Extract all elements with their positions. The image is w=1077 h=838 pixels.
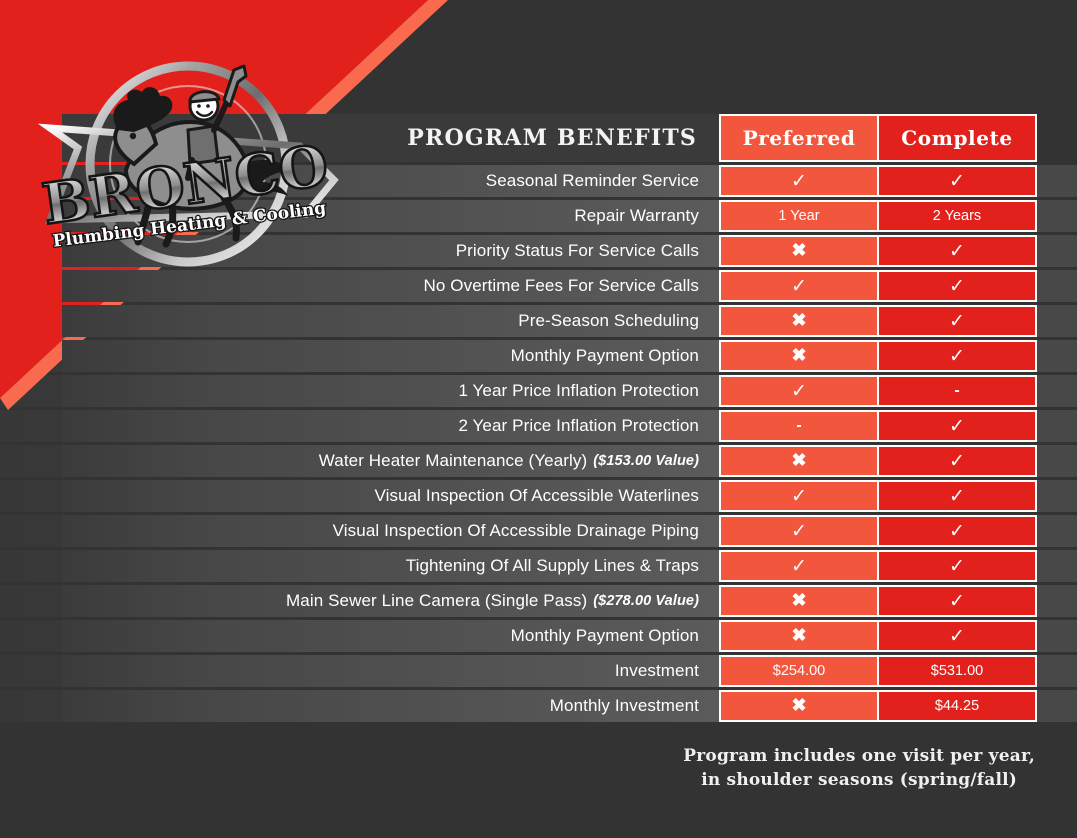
- cross-icon: ✖: [791, 697, 806, 715]
- check-icon: ✓: [949, 452, 965, 471]
- cell-preferred: ✓: [719, 270, 879, 302]
- cell-complete: ✓: [877, 340, 1037, 372]
- benefit-label-text: 2 Year Price Inflation Protection: [458, 416, 699, 436]
- cell-complete: ✓: [877, 480, 1037, 512]
- benefit-label-text: Monthly Investment: [550, 696, 699, 716]
- cell-preferred: ✖: [719, 585, 879, 617]
- cell-value: $531.00: [931, 663, 983, 679]
- cell-complete: ✓: [877, 515, 1037, 547]
- check-icon: ✓: [791, 172, 807, 191]
- benefit-label: Monthly Payment Option: [62, 620, 721, 652]
- cell-complete: $44.25: [877, 690, 1037, 722]
- header-col-preferred[interactable]: Preferred: [719, 114, 879, 162]
- benefit-label-text: No Overtime Fees For Service Calls: [424, 276, 699, 296]
- benefit-label: 1 Year Price Inflation Protection: [62, 375, 721, 407]
- cross-icon: ✖: [791, 592, 806, 610]
- cell-preferred: ✖: [719, 690, 879, 722]
- cell-complete: -: [877, 375, 1037, 407]
- benefit-label-text: Investment: [615, 661, 699, 681]
- check-icon: ✓: [949, 522, 965, 541]
- check-icon: ✓: [949, 592, 965, 611]
- cell-complete: 2 Years: [877, 200, 1037, 232]
- cell-value: 1 Year: [778, 208, 819, 224]
- table-row: Monthly Investment✖$44.25: [62, 690, 1037, 722]
- table-row: Water Heater Maintenance (Yearly)($153.0…: [62, 445, 1037, 477]
- footnote-line-2: in shoulder seasons (spring/fall): [683, 768, 1035, 792]
- cross-icon: ✖: [791, 347, 806, 365]
- cross-icon: ✖: [791, 452, 806, 470]
- benefit-label: Visual Inspection Of Accessible Waterlin…: [62, 480, 721, 512]
- dash-icon: -: [954, 383, 959, 399]
- cell-preferred: ✓: [719, 550, 879, 582]
- benefit-label-text: Visual Inspection Of Accessible Waterlin…: [374, 486, 699, 506]
- table-row: 2 Year Price Inflation Protection-✓: [62, 410, 1037, 442]
- dash-icon: -: [796, 418, 801, 434]
- table-row: Visual Inspection Of Accessible Drainage…: [62, 515, 1037, 547]
- benefit-label: Main Sewer Line Camera (Single Pass)($27…: [62, 585, 721, 617]
- check-icon: ✓: [949, 557, 965, 576]
- check-icon: ✓: [949, 627, 965, 646]
- benefit-label-text: Main Sewer Line Camera (Single Pass): [286, 591, 587, 611]
- check-icon: ✓: [949, 347, 965, 366]
- check-icon: ✓: [791, 382, 807, 401]
- table-row: Pre-Season Scheduling✖✓: [62, 305, 1037, 337]
- cell-complete: ✓: [877, 620, 1037, 652]
- benefit-label-text: Monthly Payment Option: [511, 626, 699, 646]
- benefit-label: Tightening Of All Supply Lines & Traps: [62, 550, 721, 582]
- cell-complete: ✓: [877, 165, 1037, 197]
- benefit-label-text: Priority Status For Service Calls: [456, 241, 699, 261]
- cell-preferred: ✖: [719, 305, 879, 337]
- cell-complete: ✓: [877, 305, 1037, 337]
- check-icon: ✓: [791, 277, 807, 296]
- cell-preferred: $254.00: [719, 655, 879, 687]
- cell-preferred: 1 Year: [719, 200, 879, 232]
- header-col-complete[interactable]: Complete: [877, 114, 1037, 162]
- table-row: Monthly Payment Option✖✓: [62, 620, 1037, 652]
- cell-value: $254.00: [773, 663, 825, 679]
- cell-value: 2 Years: [933, 208, 981, 224]
- cell-preferred: ✖: [719, 445, 879, 477]
- cell-complete: ✓: [877, 270, 1037, 302]
- cell-preferred: ✖: [719, 620, 879, 652]
- benefit-label-text: Pre-Season Scheduling: [518, 311, 699, 331]
- table-row: Investment$254.00$531.00: [62, 655, 1037, 687]
- check-icon: ✓: [949, 242, 965, 261]
- table-row: Monthly Payment Option✖✓: [62, 340, 1037, 372]
- cell-value: $44.25: [935, 698, 979, 714]
- cell-complete: $531.00: [877, 655, 1037, 687]
- table-row: Main Sewer Line Camera (Single Pass)($27…: [62, 585, 1037, 617]
- program-footnote: Program includes one visit per year, in …: [683, 744, 1035, 792]
- cell-preferred: ✖: [719, 235, 879, 267]
- benefit-value-note: ($153.00 Value): [593, 453, 699, 469]
- table-row: Tightening Of All Supply Lines & Traps✓✓: [62, 550, 1037, 582]
- bronco-logo: BRONCO Plumbing Heating & Cooling: [38, 52, 348, 282]
- table-row: Visual Inspection Of Accessible Waterlin…: [62, 480, 1037, 512]
- cell-complete: ✓: [877, 235, 1037, 267]
- check-icon: ✓: [791, 557, 807, 576]
- benefit-label: Water Heater Maintenance (Yearly)($153.0…: [62, 445, 721, 477]
- cell-preferred: ✖: [719, 340, 879, 372]
- cell-complete: ✓: [877, 585, 1037, 617]
- cross-icon: ✖: [791, 627, 806, 645]
- cross-icon: ✖: [791, 312, 806, 330]
- benefit-label-text: Visual Inspection Of Accessible Drainage…: [333, 521, 699, 541]
- check-icon: ✓: [949, 417, 965, 436]
- benefit-label: Visual Inspection Of Accessible Drainage…: [62, 515, 721, 547]
- table-row: 1 Year Price Inflation Protection✓-: [62, 375, 1037, 407]
- benefit-label-text: Repair Warranty: [574, 206, 699, 226]
- check-icon: ✓: [791, 522, 807, 541]
- cross-icon: ✖: [791, 242, 806, 260]
- benefit-label: Monthly Payment Option: [62, 340, 721, 372]
- benefit-label-text: 1 Year Price Inflation Protection: [458, 381, 699, 401]
- benefit-label-text: Water Heater Maintenance (Yearly): [319, 451, 588, 471]
- benefit-label: 2 Year Price Inflation Protection: [62, 410, 721, 442]
- cell-complete: ✓: [877, 445, 1037, 477]
- cell-preferred: ✓: [719, 165, 879, 197]
- check-icon: ✓: [949, 312, 965, 331]
- benefit-label-text: Monthly Payment Option: [511, 346, 699, 366]
- check-icon: ✓: [791, 487, 807, 506]
- benefit-label-text: Tightening Of All Supply Lines & Traps: [406, 556, 699, 576]
- footnote-line-1: Program includes one visit per year,: [683, 744, 1035, 768]
- cell-preferred: ✓: [719, 375, 879, 407]
- cell-preferred: ✓: [719, 480, 879, 512]
- benefit-label-text: Seasonal Reminder Service: [486, 171, 699, 191]
- cell-complete: ✓: [877, 550, 1037, 582]
- benefit-label: Monthly Investment: [62, 690, 721, 722]
- cell-preferred: -: [719, 410, 879, 442]
- check-icon: ✓: [949, 277, 965, 296]
- check-icon: ✓: [949, 487, 965, 506]
- cell-preferred: ✓: [719, 515, 879, 547]
- benefit-label: Pre-Season Scheduling: [62, 305, 721, 337]
- cell-complete: ✓: [877, 410, 1037, 442]
- check-icon: ✓: [949, 172, 965, 191]
- comparison-chart-page: BRONCO Plumbing Heating & Cooling PROGRA…: [0, 0, 1077, 838]
- benefit-value-note: ($278.00 Value): [593, 593, 699, 609]
- benefit-label: Investment: [62, 655, 721, 687]
